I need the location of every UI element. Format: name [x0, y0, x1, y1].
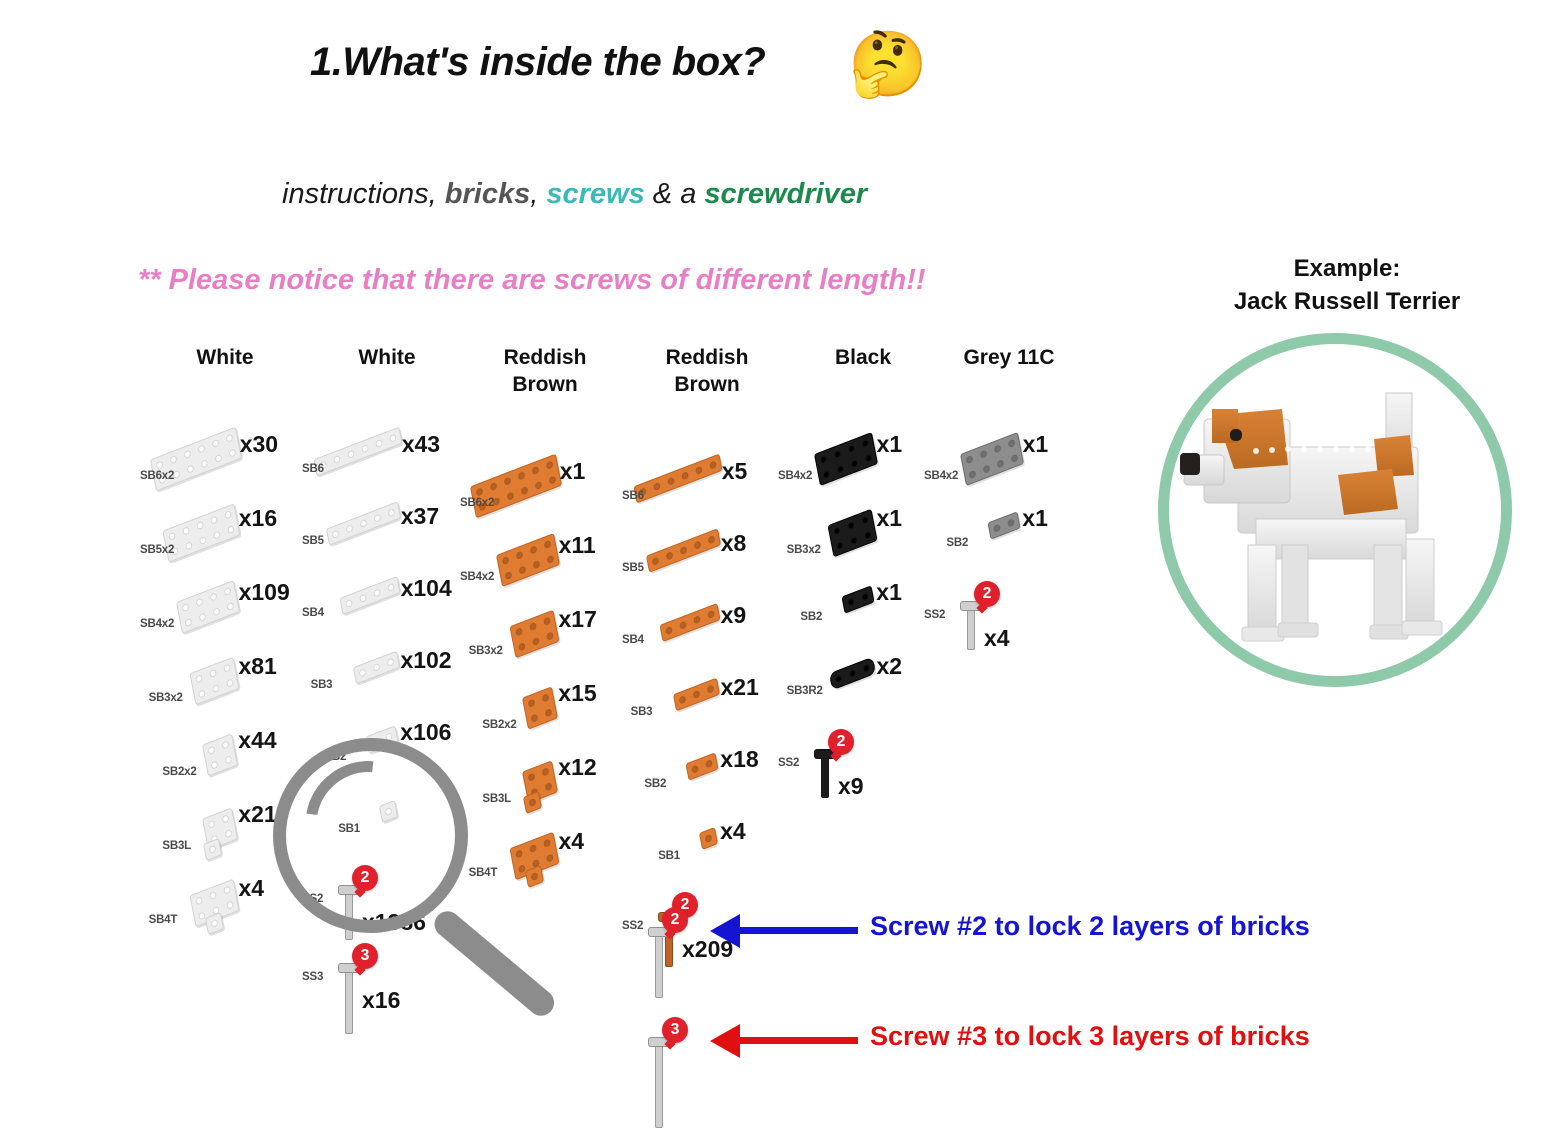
legend-arrow-head: [710, 1024, 740, 1058]
part-code: SB3L: [482, 793, 511, 805]
parts-column-3: Reddish BrownSB6x2x1SB4x2x11SB3x2x17SB2x…: [460, 344, 630, 928]
part-code: SB3x2: [787, 544, 821, 556]
part-code: SB6x2: [140, 470, 174, 482]
part-quantity: x16: [362, 987, 400, 1014]
legend-label: Screw #3 to lock 3 layers of bricks: [870, 1021, 1310, 1052]
part-quantity: x4: [238, 875, 264, 902]
legend-screw-badge: 2: [662, 907, 688, 933]
part-quantity: x81: [238, 653, 276, 680]
part-quantity: x17: [558, 606, 596, 633]
part-quantity: x2: [876, 653, 902, 680]
part-code: SB5: [302, 535, 324, 547]
part-code: SB3: [311, 679, 333, 691]
part-quantity: x4: [984, 625, 1010, 652]
parts-column-header: White: [140, 344, 310, 371]
thinking-face-emoji: 🤔: [848, 32, 928, 96]
subtitle-screwdriver: screwdriver: [704, 178, 867, 210]
screw-number-badge: 2: [352, 865, 378, 891]
part-code: SB1: [658, 850, 680, 862]
parts-column-2: WhiteSB6x43SB5x37SB4x104SB3x102SB2x106SB…: [302, 344, 472, 901]
parts-inventory-table: WhiteSB6x2x30SB5x2x16SB4x2x109SB3x2x81SB…: [140, 344, 1100, 904]
part-quantity: x12: [558, 754, 596, 781]
part-quantity: x4: [558, 828, 584, 855]
part-quantity: x30: [240, 431, 278, 458]
legend-arrow-line: [740, 927, 858, 934]
part-quantity: x37: [401, 503, 439, 530]
jack-russell-terrier-brick-model: [1178, 369, 1496, 649]
subtitle-instructions: instructions,: [282, 178, 445, 210]
part-code: SB3x2: [149, 692, 183, 704]
part-code: SB1: [338, 823, 360, 835]
part-code: SB6: [622, 490, 644, 502]
part-quantity: x21: [238, 801, 276, 828]
part-code: SB6: [302, 463, 324, 475]
parts-column-header: Reddish Brown: [622, 344, 792, 398]
part-quantity: x4: [720, 818, 746, 845]
parts-column-5: BlackSB4x2x1SB3x2x1SB2x1SB3R2x22SS2x9: [778, 344, 948, 901]
part-code: SB3x2: [469, 645, 503, 657]
part-code: SB2: [644, 778, 666, 790]
screw-length-notice: ** Please notice that there are screws o…: [138, 264, 926, 297]
legend-arrow-head: [710, 914, 740, 948]
part-code: SB4: [302, 607, 324, 619]
part-code: SB2x2: [162, 766, 196, 778]
part-code: SB2: [324, 751, 346, 763]
contents-subtitle: instructions, bricks, screws & a screwdr…: [282, 178, 867, 211]
part-code: SB3: [631, 706, 653, 718]
example-heading: Example: Jack Russell Terrier: [1182, 252, 1512, 318]
part-quantity: x1: [1022, 505, 1048, 532]
subtitle-bricks: bricks: [445, 178, 530, 210]
part-quantity: x8: [721, 530, 747, 557]
part-code: SS2: [778, 757, 799, 769]
part-quantity: x1: [560, 458, 586, 485]
part-code: SB4T: [469, 867, 498, 879]
part-code: SB2: [800, 611, 822, 623]
part-quantity: x106: [400, 719, 451, 746]
part-quantity: x15: [558, 680, 596, 707]
parts-column-4: Reddish BrownSB6x5SB5x8SB4x9SB3x21SB2x18…: [622, 344, 792, 928]
subtitle-sep2: & a: [645, 178, 705, 210]
part-code: SB3L: [162, 840, 191, 852]
parts-column-header: Black: [778, 344, 948, 371]
parts-column-header: White: [302, 344, 472, 371]
part-quantity: x44: [238, 727, 276, 754]
example-label: Example:: [1182, 252, 1512, 285]
part-code: SB4x2: [924, 470, 958, 482]
part-code: SB4: [622, 634, 644, 646]
part-quantity: x9: [838, 773, 864, 800]
part-quantity: x9: [721, 602, 747, 629]
part-code: SB4x2: [140, 618, 174, 630]
parts-column-header: Grey 11C: [924, 344, 1094, 371]
part-code: SB4x2: [778, 470, 812, 482]
parts-column-header: Reddish Brown: [460, 344, 630, 398]
part-code: SS3: [302, 971, 323, 983]
part-code: SB2: [946, 537, 968, 549]
example-breed-name: Jack Russell Terrier: [1182, 285, 1512, 318]
part-quantity: x5: [722, 458, 748, 485]
screw-number-badge: 2: [974, 581, 1000, 607]
part-quantity: x1: [877, 431, 903, 458]
parts-column-1: WhiteSB6x2x30SB5x2x16SB4x2x109SB3x2x81SB…: [140, 344, 310, 901]
part-code: SB5x2: [140, 544, 174, 556]
legend-arrow-line: [740, 1037, 858, 1044]
part-code: SB2x2: [482, 719, 516, 731]
part-code: SB5: [622, 562, 644, 574]
part-quantity: x104: [401, 575, 452, 602]
part-code: SS2: [302, 893, 323, 905]
page-title: 1.What's inside the box?: [310, 40, 765, 85]
part-quantity: x102: [400, 647, 451, 674]
part-code: SB4x2: [460, 571, 494, 583]
example-model-frame: [1158, 333, 1548, 723]
part-quantity: x21: [720, 674, 758, 701]
legend-label: Screw #2 to lock 2 layers of bricks: [870, 911, 1310, 942]
part-code: SB4T: [149, 914, 178, 926]
parts-column-6: Grey 11CSB4x2x1SB2x12SS2x4: [924, 344, 1094, 901]
subtitle-screws: screws: [546, 178, 644, 210]
part-quantity: x18: [720, 746, 758, 773]
screw-number-badge: 2: [828, 729, 854, 755]
part-quantity: x1386: [362, 909, 426, 936]
part-quantity: x1: [876, 579, 902, 606]
legend-screw-badge: 3: [662, 1017, 688, 1043]
part-quantity: x1: [876, 505, 902, 532]
part-quantity: x109: [239, 579, 290, 606]
part-quantity: x43: [402, 431, 440, 458]
part-quantity: x1: [1023, 431, 1049, 458]
subtitle-sep1: ,: [530, 178, 546, 210]
part-code: SB3R2: [787, 685, 823, 697]
screw-number-badge: 3: [352, 943, 378, 969]
part-quantity: x11: [559, 532, 596, 559]
part-quantity: x16: [239, 505, 277, 532]
part-code: SS2: [924, 609, 945, 621]
part-code: SS2: [622, 920, 643, 932]
part-code: SB6x2: [460, 497, 494, 509]
